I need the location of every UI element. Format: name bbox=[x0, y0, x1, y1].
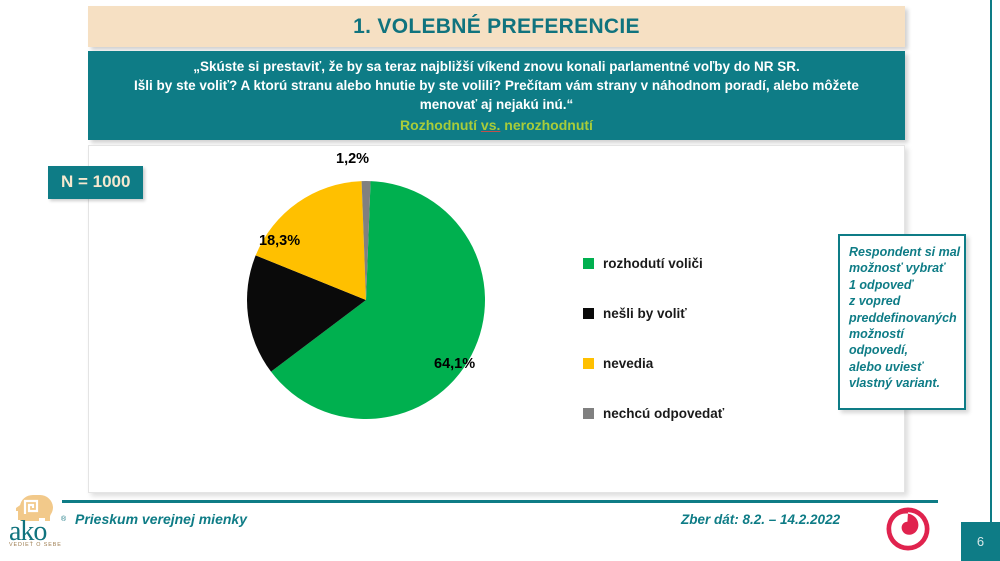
note-line: z vopred bbox=[849, 293, 957, 309]
question-line-1: „Skúste si prestaviť, že by sa teraz naj… bbox=[106, 57, 887, 76]
question-line-2: Išli by ste voliť? A ktorú stranu alebo … bbox=[106, 76, 887, 95]
pie-label-nevedia: 18,3% bbox=[259, 233, 300, 249]
note-line: možností bbox=[849, 326, 957, 342]
pie-chart-svg bbox=[232, 180, 500, 420]
legend-item-nevedia[interactable]: nevedia bbox=[583, 338, 783, 388]
note-line: alebo uviesť bbox=[849, 359, 957, 375]
chart-legend: rozhodutí voliči nešli by voliť nevedia … bbox=[583, 238, 783, 438]
legend-item-nesli-by-volit[interactable]: nešli by voliť bbox=[583, 288, 783, 338]
question-line-3: menovať aj nejakú inú.“ bbox=[106, 95, 887, 114]
note-line: preddefinovaných bbox=[849, 310, 957, 326]
legend-swatch-icon bbox=[583, 408, 594, 419]
pie-chart: 64,1% 16,4% 18,3% 1,2% bbox=[232, 180, 500, 420]
legend-label: nechcú odpovedať bbox=[603, 406, 724, 421]
legend-swatch-icon bbox=[583, 258, 594, 269]
ako-logo: ako ® VEDIEŤ O SEBE bbox=[6, 494, 72, 554]
page-title: 1. VOLEBNÉ PREFERENCIE bbox=[353, 15, 640, 39]
legend-label: nešli by voliť bbox=[603, 306, 687, 321]
footer-survey-label: Prieskum verejnej mienky bbox=[75, 511, 247, 527]
footer-fieldwork-dates: Zber dát: 8.2. – 14.2.2022 bbox=[681, 512, 840, 527]
note-line: vlastný variant. bbox=[849, 375, 957, 391]
legend-swatch-icon bbox=[583, 358, 594, 369]
right-accent-rule bbox=[990, 0, 992, 561]
note-line: odpovedí, bbox=[849, 342, 957, 358]
legend-label: rozhodutí voliči bbox=[603, 256, 703, 271]
legend-item-nechcu-odpovedat[interactable]: nechcú odpovedať bbox=[583, 388, 783, 438]
footer-divider bbox=[62, 500, 938, 503]
note-line: 1 odpoveď bbox=[849, 277, 957, 293]
slide-canvas: 1. VOLEBNÉ PREFERENCIE „Skúste si presta… bbox=[0, 0, 1000, 561]
registered-trademark-icon: ® bbox=[61, 516, 66, 523]
subtitle-vs: vs. bbox=[481, 117, 500, 133]
pie-label-nesli-by-volit: 16,4% bbox=[198, 320, 239, 336]
subtitle-before: Rozhodnutí bbox=[400, 117, 481, 133]
pie-slices bbox=[247, 181, 485, 419]
slide-title-band: 1. VOLEBNÉ PREFERENCIE bbox=[88, 6, 905, 47]
ako-tagline: VEDIEŤ O SEBE bbox=[9, 542, 62, 548]
legend-item-rozhodnuti-volici[interactable]: rozhodutí voliči bbox=[583, 238, 783, 288]
note-line: Respondent si mal bbox=[849, 244, 957, 260]
markiza-spiral-icon bbox=[885, 506, 931, 552]
pie-label-nechcu-odpovedat: 1,2% bbox=[336, 151, 369, 167]
sample-size-badge: N = 1000 bbox=[48, 166, 143, 199]
subtitle-after: nerozhodnutí bbox=[500, 117, 593, 133]
question-subtitle: Rozhodnutí vs. nerozhodnutí bbox=[106, 115, 887, 135]
note-line: možnosť vybrať bbox=[849, 260, 957, 276]
page-number-badge: 6 bbox=[961, 522, 1000, 561]
legend-label: nevedia bbox=[603, 356, 653, 371]
pie-label-rozhodnuti-volici: 64,1% bbox=[434, 356, 475, 372]
methodology-note-box: Respondent si mal možnosť vybrať 1 odpov… bbox=[838, 234, 966, 410]
legend-swatch-icon bbox=[583, 308, 594, 319]
question-band: „Skúste si prestaviť, že by sa teraz naj… bbox=[88, 51, 905, 140]
